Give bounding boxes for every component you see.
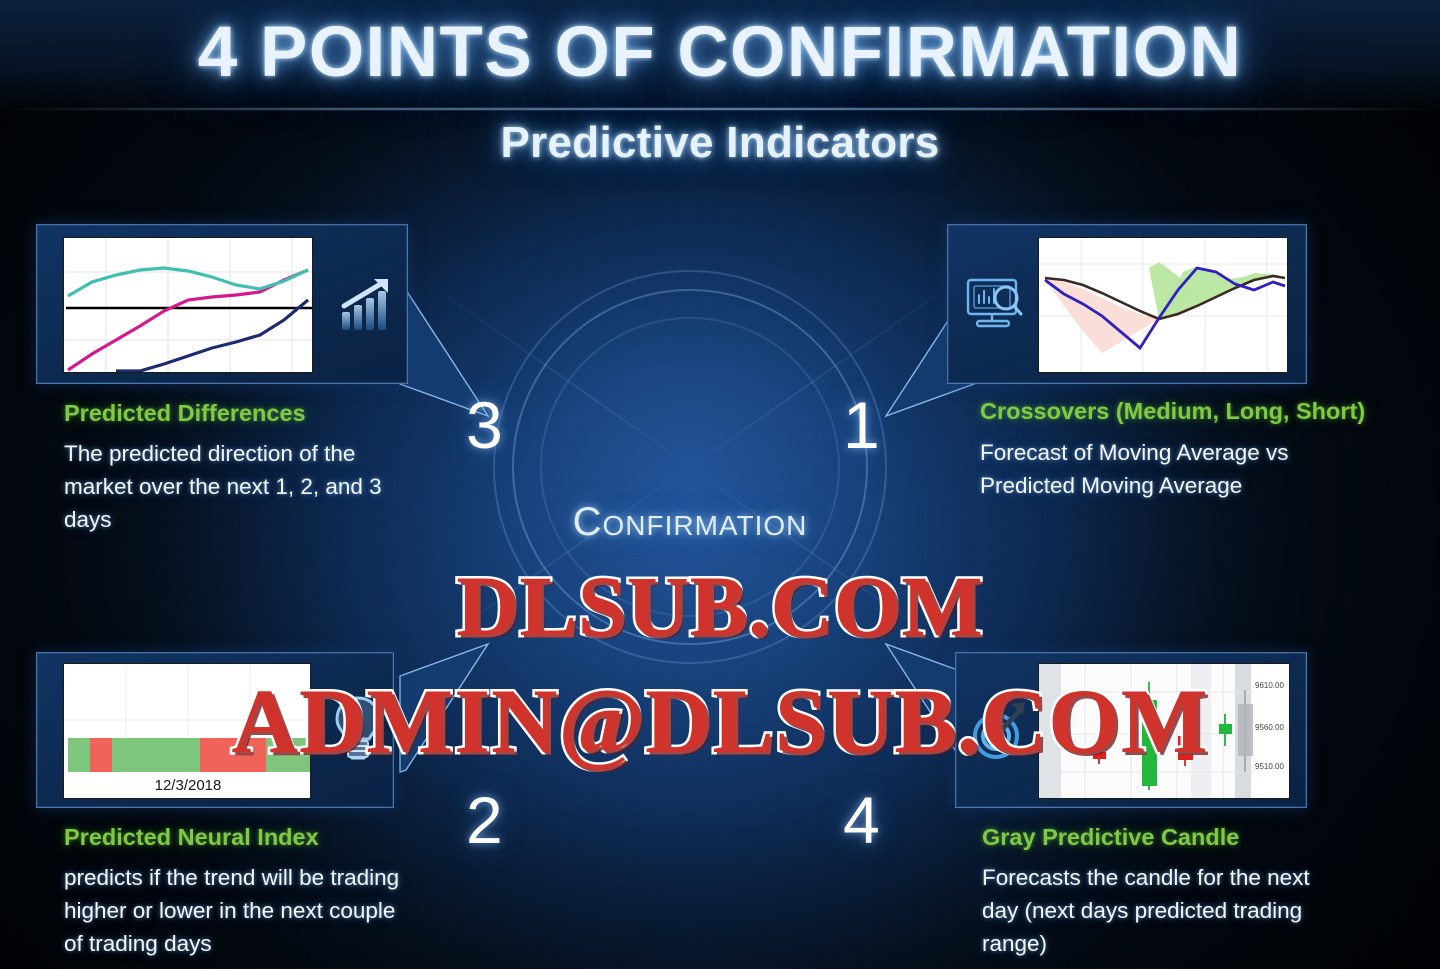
card-title-predicted-differences: Predicted Differences — [64, 400, 306, 427]
card-body-crossovers: Forecast of Moving Average vs Predicted … — [980, 436, 1340, 502]
infographic-stage: 4 POINTS OF CONFIRMATION Predictive Indi… — [0, 0, 1440, 969]
card-title-crossovers: Crossovers (Medium, Long, Short) — [980, 398, 1365, 425]
card-title-neural-index: Predicted Neural Index — [64, 824, 319, 851]
thumbnail-crossovers-chart — [1038, 237, 1288, 373]
step-number-4: 4 — [843, 782, 880, 858]
page-subtitle: Predictive Indicators — [0, 118, 1440, 168]
card-frame-top-left — [36, 224, 408, 384]
card-body-predicted-differences: The predicted direction of the market ov… — [64, 437, 384, 536]
card-title-gray-candle: Gray Predictive Candle — [982, 824, 1239, 851]
step-number-2: 2 — [466, 782, 503, 858]
watermark-site: DLSUB.COM — [0, 556, 1440, 656]
card-body-gray-candle: Forecasts the candle for the next day (n… — [982, 861, 1332, 960]
svg-text:12/3/2018: 12/3/2018 — [155, 777, 222, 794]
card-body-neural-index: predicts if the trend will be trading hi… — [64, 861, 409, 960]
watermark-email: ADMIN@DLSUB.COM — [0, 668, 1440, 774]
predicted-differences-chart — [64, 238, 313, 373]
bar-chart-growth-icon — [337, 275, 399, 335]
crossovers-chart — [1039, 238, 1288, 373]
center-confirmation-label: Confirmation — [440, 500, 940, 545]
thumbnail-predicted-differences-chart — [63, 237, 313, 373]
step-number-3: 3 — [466, 387, 503, 463]
header-divider — [0, 108, 1440, 110]
step-number-1: 1 — [843, 387, 880, 463]
page-title: 4 POINTS OF CONFIRMATION — [0, 12, 1440, 93]
monitor-analytics-icon — [964, 275, 1028, 335]
card-frame-top-right — [947, 224, 1307, 384]
